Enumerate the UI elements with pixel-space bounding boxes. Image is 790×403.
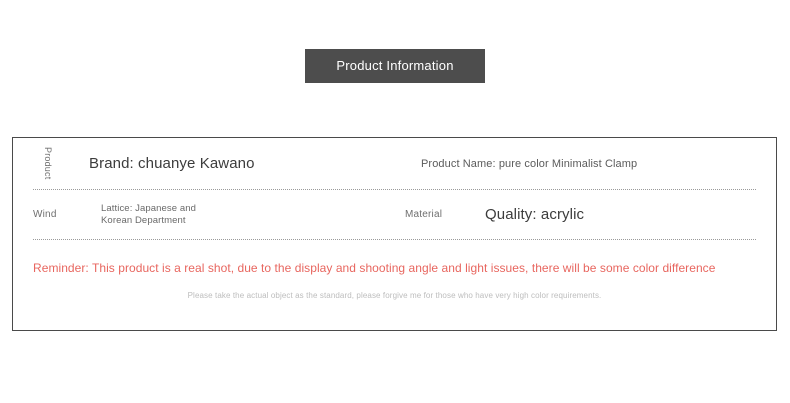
spec-label-product: Product xyxy=(33,147,53,181)
product-information-card: Product Brand: chuanye Kawano Product Na… xyxy=(12,137,777,331)
spec-value-product-name: Product Name: pure color Minimalist Clam… xyxy=(405,158,637,170)
spec-cell-product-name: Product Name: pure color Minimalist Clam… xyxy=(405,138,756,189)
spec-label-wind: Wind xyxy=(33,209,85,221)
spec-value-lattice: Lattice: Japanese and Korean Department xyxy=(85,203,196,227)
header-banner-container: Product Information xyxy=(0,49,790,83)
reminder-section: Reminder: This product is a real shot, d… xyxy=(13,240,776,300)
spec-label-material: Material xyxy=(405,209,457,221)
page-title-banner: Product Information xyxy=(305,49,485,83)
spec-value-quality: Quality: acrylic xyxy=(457,206,584,223)
spec-cell-wind: Wind Lattice: Japanese and Korean Depart… xyxy=(33,190,405,239)
spec-value-brand: Brand: chuanye Kawano xyxy=(53,155,255,172)
spec-row: Product Brand: chuanye Kawano Product Na… xyxy=(33,138,756,190)
reminder-text: Reminder: This product is a real shot, d… xyxy=(33,261,776,275)
spec-row: Wind Lattice: Japanese and Korean Depart… xyxy=(33,190,756,240)
spec-cell-brand: Product Brand: chuanye Kawano xyxy=(33,138,405,189)
spec-cell-material: Material Quality: acrylic xyxy=(405,190,756,239)
disclaimer-text: Please take the actual object as the sta… xyxy=(13,291,776,300)
